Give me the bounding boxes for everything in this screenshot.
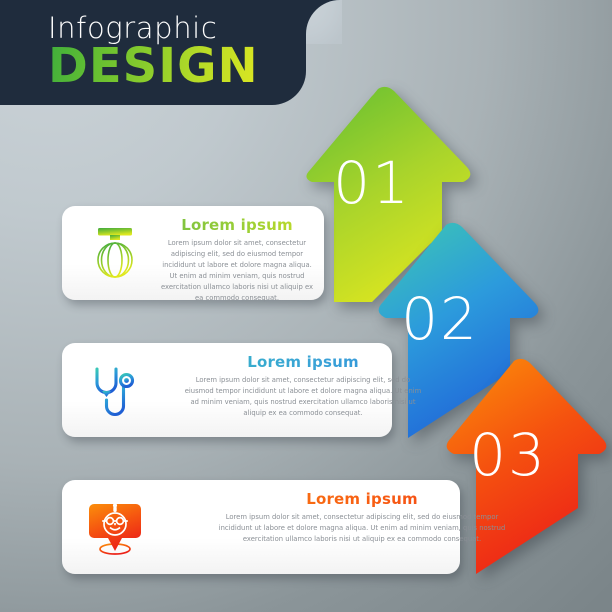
- content-card-3[interactable]: Lorem ipsum Lorem ipsum dolor sit amet, …: [62, 480, 460, 574]
- step-number-02: 02: [374, 290, 506, 348]
- card-2-text: Lorem ipsum Lorem ipsum dolor sit amet, …: [184, 354, 422, 419]
- step-arrow-03[interactable]: 03: [442, 358, 612, 580]
- disco-ball-icon: [84, 222, 146, 284]
- step-number-01: 01: [306, 154, 438, 212]
- card-2-title: Lorem ipsum: [184, 354, 422, 371]
- step-number-03: 03: [442, 426, 574, 484]
- card-3-body: Lorem ipsum dolor sit amet, consectetur …: [212, 512, 512, 545]
- card-1-body: Lorem ipsum dolor sit amet, consectetur …: [158, 238, 316, 304]
- content-card-2[interactable]: Lorem ipsum Lorem ipsum dolor sit amet, …: [62, 343, 392, 437]
- header-panel: Infographic DESIGN: [0, 0, 306, 105]
- card-1-text: Lorem ipsum Lorem ipsum dolor sit amet, …: [158, 217, 316, 304]
- stethoscope-icon: [84, 359, 146, 421]
- card-3-title: Lorem ipsum: [212, 491, 512, 508]
- infographic-canvas: Infographic DESIGN 01: [0, 0, 612, 612]
- header-corner-notch: [306, 0, 342, 44]
- card-1-title: Lorem ipsum: [158, 217, 316, 234]
- header-title-line2: DESIGN: [48, 42, 259, 90]
- content-card-1[interactable]: Lorem ipsum Lorem ipsum dolor sit amet, …: [62, 206, 324, 300]
- card-3-text: Lorem ipsum Lorem ipsum dolor sit amet, …: [212, 491, 512, 545]
- card-2-body: Lorem ipsum dolor sit amet, consectetur …: [184, 375, 422, 419]
- map-pin-face-icon: [84, 496, 146, 558]
